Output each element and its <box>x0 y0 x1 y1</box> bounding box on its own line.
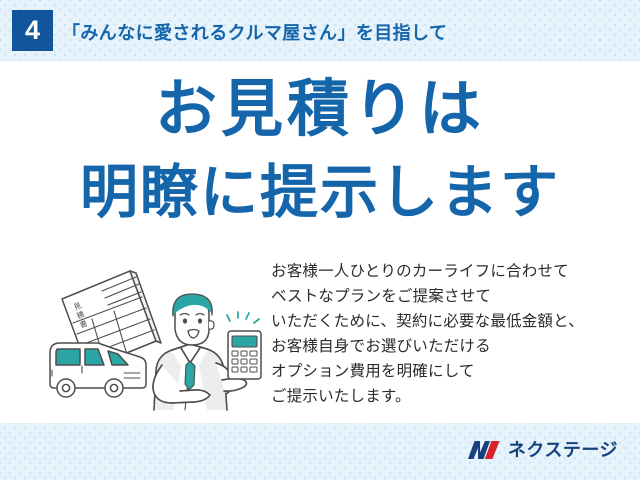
header-bar: 4 「みんなに愛されるクルマ屋さん」を目指して <box>0 0 640 61</box>
section-number-badge: 4 <box>12 10 53 51</box>
brand-logo: ネクステージ <box>467 437 618 463</box>
promo-slide: 4 「みんなに愛されるクルマ屋さん」を目指して お見積りは 明瞭に提示します お… <box>0 0 640 480</box>
body-copy-line: ベストなプランをご提案させて <box>271 284 621 309</box>
illustration-svg: 見 積 書 <box>44 253 270 413</box>
body-copy-line: ご提示いたします。 <box>271 384 621 409</box>
sparkle-icon <box>227 312 259 323</box>
body-copy-line: オプション費用を明確にして <box>271 359 621 384</box>
header-title: 「みんなに愛されるクルマ屋さん」を目指して <box>62 19 447 45</box>
headline-line-2: 明瞭に提示します <box>0 164 640 222</box>
main-content: お見積りは 明瞭に提示します お客様一人ひとりのカーライフに合わせて ベストなプ… <box>0 61 640 423</box>
brand-name: ネクステージ <box>508 441 618 459</box>
headline-line-1: お見積りは <box>0 79 640 141</box>
nextage-n-logo-icon <box>467 439 501 461</box>
footer-bar: ネクステージ <box>0 423 640 480</box>
body-copy-line: いただくために、契約に必要な最低金額と、 <box>271 309 621 334</box>
calculator-icon <box>228 331 261 379</box>
body-copy: お客様一人ひとりのカーライフに合わせて ベストなプランをご提案させて いただくた… <box>271 259 621 409</box>
headline: お見積りは 明瞭に提示します <box>0 79 640 222</box>
section-number-label: 4 <box>25 17 40 44</box>
body-copy-line: お客様自身でお選びいただける <box>271 334 621 359</box>
illustration-salesman-estimate: 見 積 書 <box>44 253 270 413</box>
body-copy-line: お客様一人ひとりのカーライフに合わせて <box>271 259 621 284</box>
